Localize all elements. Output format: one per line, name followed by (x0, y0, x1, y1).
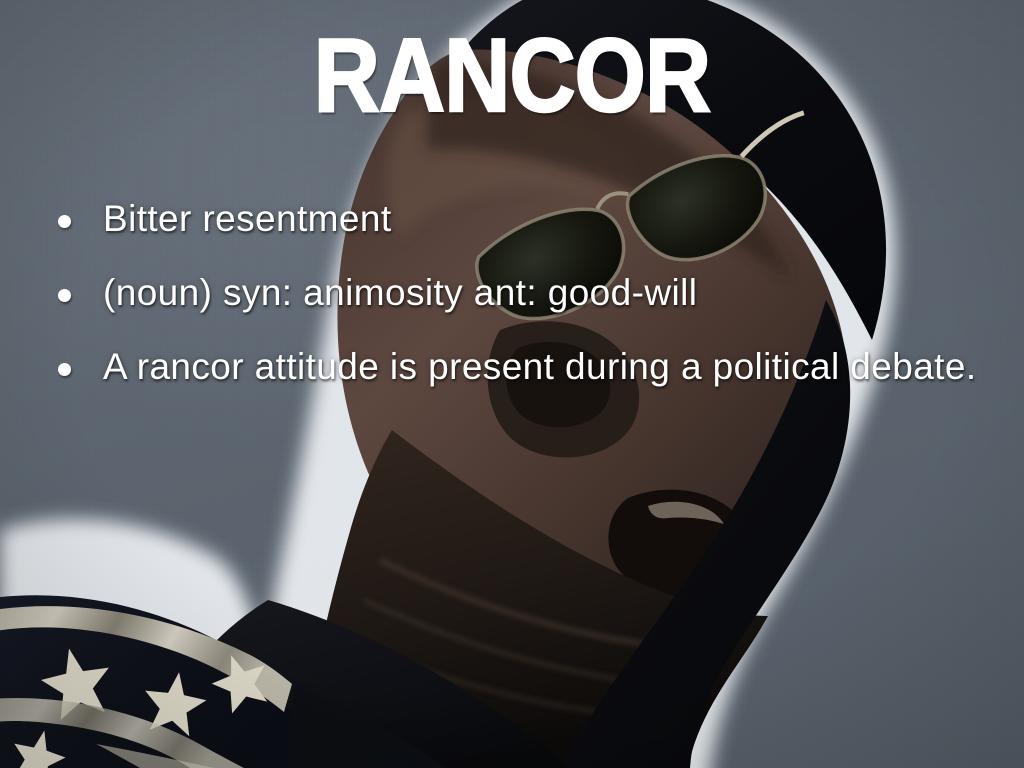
slide-canvas: RANCOR Bitter resentment (noun) syn: ani… (0, 0, 1024, 768)
bullet-dot-icon (58, 215, 71, 228)
list-item: A rancor attitude is present during a po… (58, 344, 1008, 418)
list-item: (noun) syn: animosity ant: good-will (58, 270, 1008, 344)
bullet-text: A rancor attitude is present during a po… (103, 344, 977, 390)
page-title: RANCOR (61, 24, 962, 128)
bullet-text: (noun) syn: animosity ant: good-will (103, 270, 697, 316)
bullet-text: Bitter resentment (103, 196, 392, 242)
bullet-list: Bitter resentment (noun) syn: animosity … (58, 196, 1008, 418)
bullet-dot-icon (58, 289, 71, 302)
list-item: Bitter resentment (58, 196, 1008, 270)
bullet-dot-icon (58, 363, 71, 376)
